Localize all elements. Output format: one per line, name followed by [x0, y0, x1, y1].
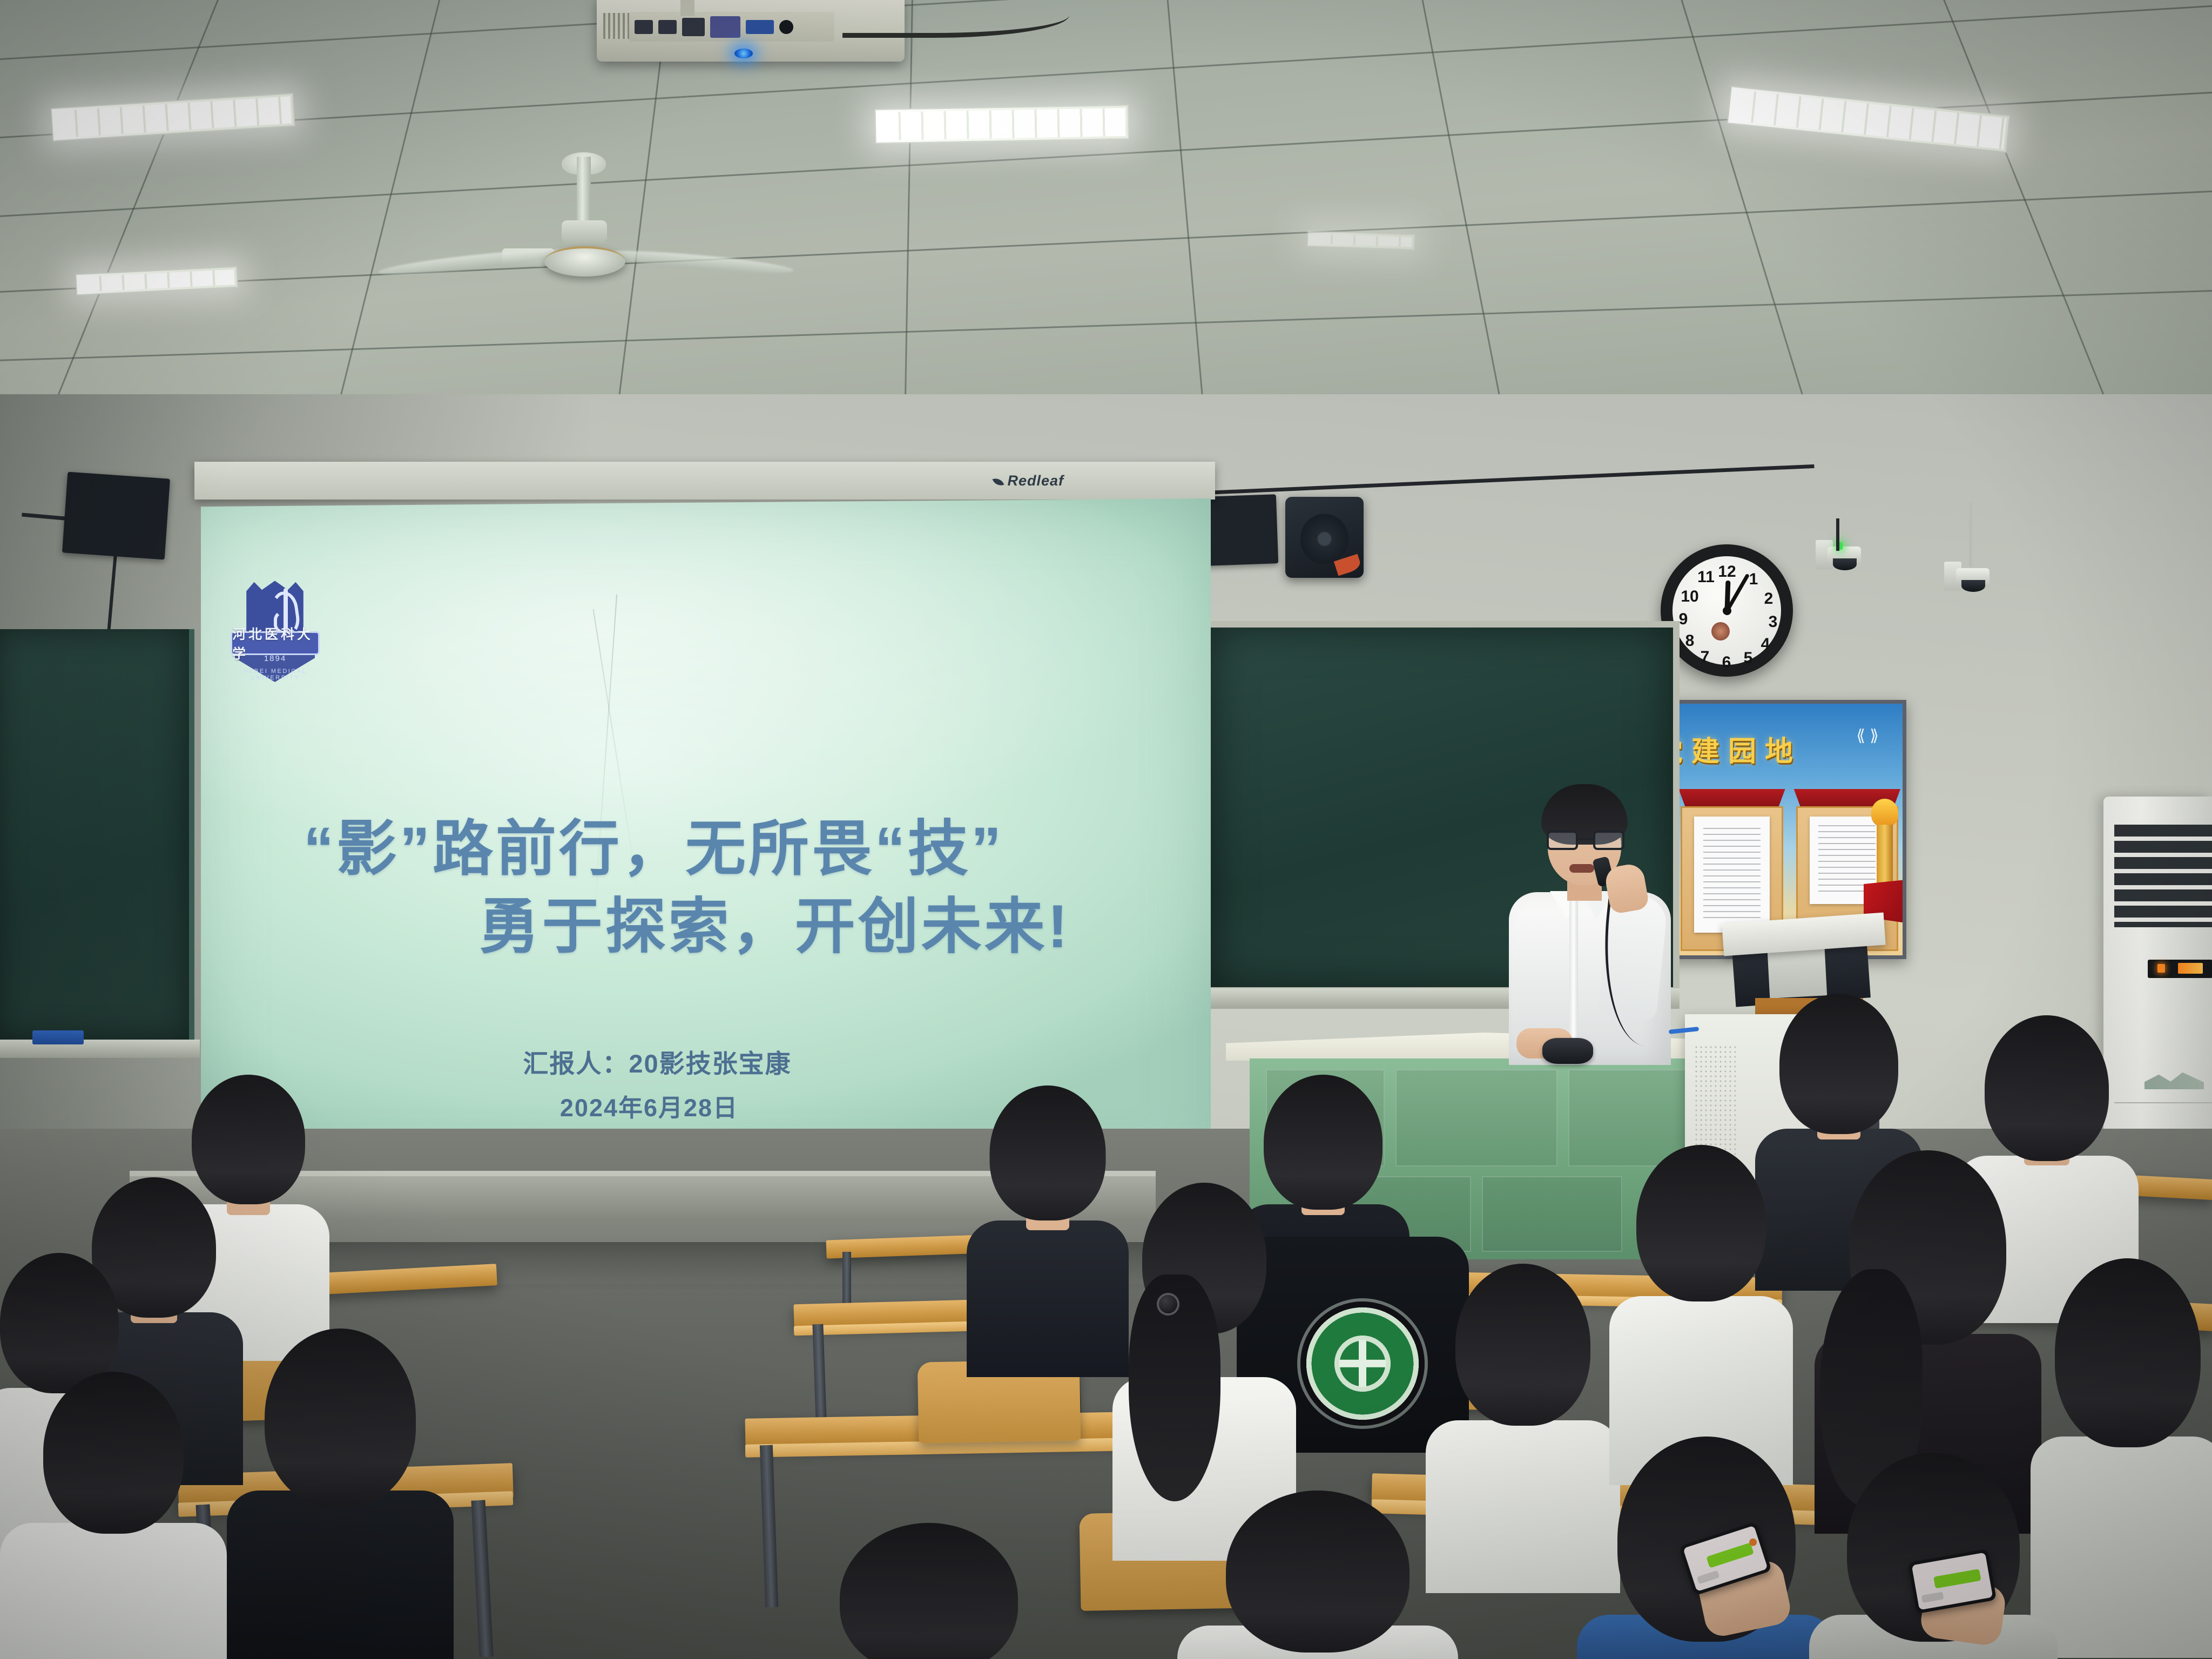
camera-cable: [1836, 518, 1839, 551]
camera-dome-icon: [1833, 558, 1857, 570]
clock-numeral: 3: [1762, 613, 1784, 631]
student-head: [43, 1372, 184, 1534]
posted-document: [1694, 817, 1769, 933]
computer-mouse[interactable]: [1542, 1038, 1593, 1064]
ceiling-tile-grid: [0, 0, 2212, 410]
wall-speaker: [1285, 497, 1364, 578]
wall-clock: 12 1 2 3 4 5 6 7 8 9 10 11: [1661, 544, 1793, 677]
student-head: [2055, 1258, 2201, 1447]
clock-face: 12 1 2 3 4 5 6 7 8 9 10 11: [1673, 556, 1781, 665]
shirt-logo: [1300, 1301, 1425, 1426]
student: [799, 1523, 1058, 1659]
student-head: [1226, 1491, 1410, 1653]
ceiling: [0, 0, 2212, 410]
student-head: [1455, 1264, 1590, 1426]
logo-name-en: HEBEI MEDICAL UNIVERSITY: [231, 668, 320, 681]
student-torso: [0, 1523, 227, 1659]
torch-flame: [1871, 799, 1898, 827]
clock-numeral: 6: [1716, 653, 1737, 672]
chat-bubble-incoming: [1921, 1591, 1944, 1603]
clock-numeral: 2: [1758, 590, 1779, 608]
clock-center-pin: [1723, 606, 1731, 615]
university-logo: 河北医科大学 1894 HEBEI MEDICAL UNIVERSITY: [231, 579, 320, 679]
student: [1609, 1145, 1793, 1480]
torch-handle: [1877, 825, 1893, 889]
ceiling-light-panel: [874, 105, 1129, 144]
speaker-backplate: [62, 472, 170, 560]
clock-numeral: 8: [1679, 632, 1701, 650]
clock-sticker: [1711, 622, 1730, 640]
student: [2031, 1258, 2212, 1658]
clock-numeral: 10: [1679, 588, 1701, 606]
glasses-lens: [1547, 831, 1578, 850]
chat-bubble-outgoing: [1933, 1569, 1981, 1589]
logo-founding-year: 1894: [231, 654, 320, 663]
podium-panel: [1482, 1176, 1622, 1252]
slide-title-line-1: “影”路前行，无所畏“技”: [239, 800, 1168, 887]
projection-screen-frame: Redleaf: [194, 462, 1215, 500]
chat-bubble-incoming: [1697, 1570, 1719, 1584]
hair-tie: [1159, 1295, 1177, 1313]
clock-numeral: 7: [1694, 648, 1716, 666]
ac-vent-grille: [2114, 825, 2212, 927]
glasses-icon: [1547, 831, 1624, 850]
slide-title-line-2: 勇于探索，开创未来!: [239, 878, 1168, 965]
student-head: [1985, 1015, 2109, 1161]
student-head: [990, 1085, 1106, 1220]
panel-header: [1678, 789, 1785, 806]
student-torso: [967, 1220, 1129, 1377]
ac-display-panel: [2148, 960, 2212, 978]
document-text-lines: [1703, 828, 1761, 921]
fan-down-rod: [577, 157, 591, 227]
camera-dome-icon: [1961, 580, 1985, 592]
glasses-lens: [1593, 831, 1624, 850]
student: [1177, 1491, 1458, 1659]
projector-mount: [680, 0, 694, 16]
clock-numeral: 11: [1695, 568, 1717, 586]
ac-brand-logo: [2144, 1071, 2204, 1089]
presenter-mouth: [1569, 864, 1594, 873]
student: [227, 1328, 454, 1659]
chalk-tray-left: [0, 1040, 200, 1058]
torch-icon: [1864, 799, 1906, 923]
clock-numeral: 5: [1737, 649, 1759, 667]
student-head: [1779, 994, 1898, 1134]
slide-presenter-line: 汇报人：20影技张宝康: [201, 1043, 1211, 1080]
student-head: [1636, 1145, 1766, 1301]
glasses-bridge: [1578, 838, 1593, 840]
blackboard-eraser[interactable]: [32, 1030, 84, 1044]
projection-screen: 河北医科大学 1894 HEBEI MEDICAL UNIVERSITY “影”…: [201, 498, 1211, 1180]
student-head: [265, 1328, 416, 1507]
presenter-right-hand: [1603, 862, 1650, 914]
phone-screen[interactable]: [1912, 1553, 1993, 1610]
student: [0, 1372, 227, 1659]
presenter-shirt-placket: [1569, 895, 1578, 1057]
presenter: [1491, 784, 1685, 1065]
camera-cable: [1969, 502, 1972, 567]
projector-power-led: [734, 49, 753, 58]
classroom-photo: 12 1 2 3 4 5 6 7 8 9 10 11 党建园地 ⟪ ⟫: [0, 0, 2212, 1659]
blackboard-left: [0, 629, 194, 1040]
logo-name-cn: 河北医科大学: [231, 631, 320, 655]
student-torso: [227, 1491, 454, 1659]
student-head: [840, 1523, 1018, 1659]
birds-icon: ⟪ ⟫: [1856, 726, 1879, 745]
chat-bubble-outgoing: [1706, 1542, 1754, 1568]
student: [967, 1085, 1129, 1366]
projector-port-panel: [629, 12, 834, 42]
clock-numeral: 12: [1716, 563, 1738, 581]
security-camera: [1944, 562, 1991, 595]
leaf-icon: [993, 476, 1004, 488]
screen-brand-label: Redleaf: [994, 473, 1064, 489]
speaker-accent: [1334, 554, 1362, 576]
student-torso: [2031, 1437, 2212, 1658]
ceiling-fan: [544, 246, 625, 276]
